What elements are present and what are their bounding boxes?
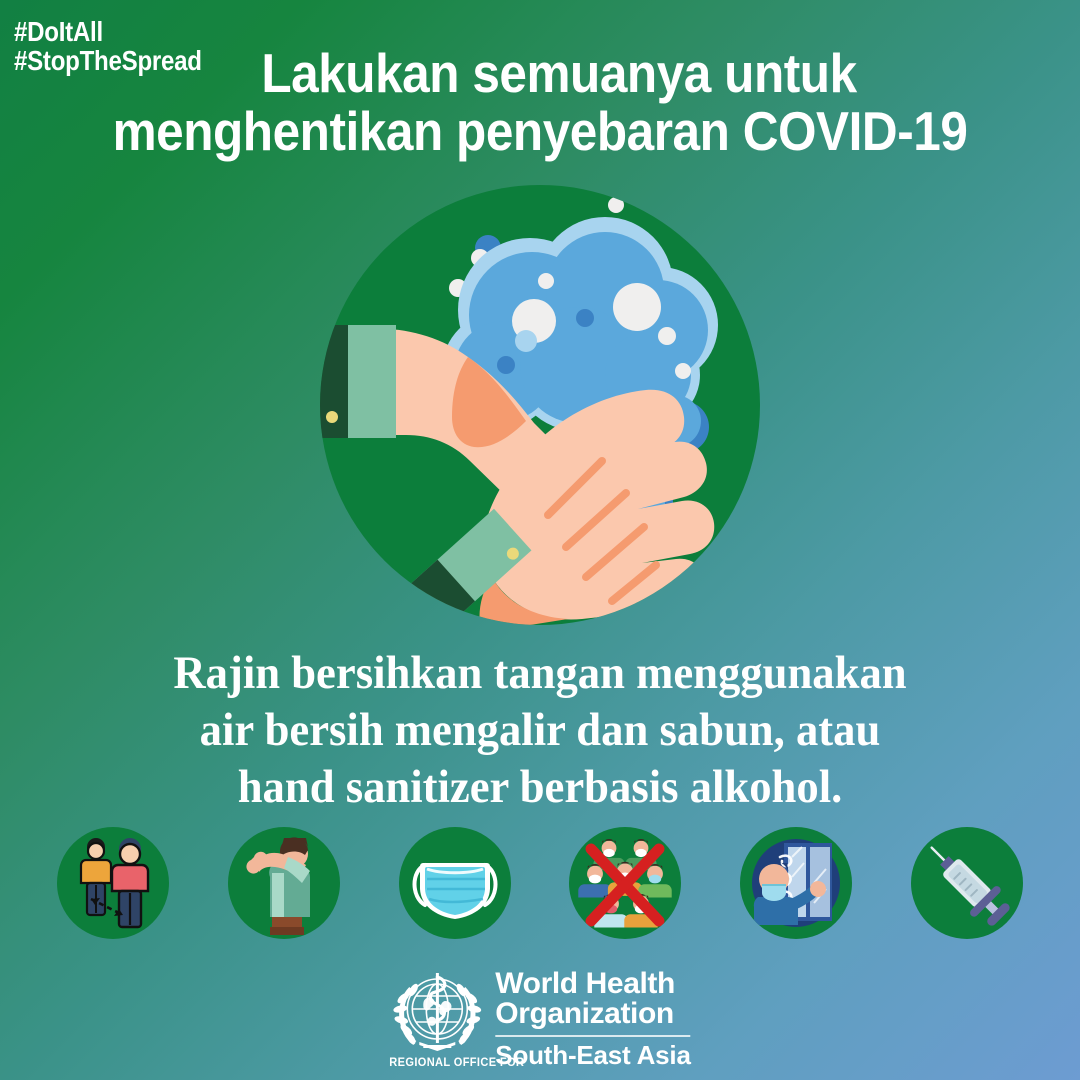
who-wordmark: World Health Organization South-East Asi… (495, 963, 690, 1068)
who-regional-office-label: REGIONAL OFFICE FOR (389, 1055, 524, 1069)
who-name-line-1: World Health (495, 969, 690, 999)
cough-into-elbow-icon (228, 827, 340, 939)
who-region-name: South-East Asia (495, 1042, 690, 1068)
who-emblem-icon: REGIONAL OFFICE FOR (389, 965, 485, 1066)
who-logo: REGIONAL OFFICE FOR World Health Organiz… (389, 963, 690, 1075)
body-message: Rajin bersihkan tangan menggunakan air b… (0, 645, 1080, 816)
hashtag-do-it-all: #DoItAll (14, 18, 202, 47)
ventilation-open-window-icon (740, 827, 852, 939)
headline-line-2: menghentikan penyebaran COVID-19 (54, 102, 1026, 160)
prevention-icon-row (57, 825, 1023, 940)
vaccination-syringe-icon (911, 827, 1023, 939)
headline-line-1: Lakukan semuanya untuk (90, 44, 1028, 102)
physical-distancing-icon (57, 827, 169, 939)
face-mask-icon (399, 827, 511, 939)
who-divider (495, 1035, 690, 1037)
body-line-1: Rajin bersihkan tangan menggunakan (27, 645, 1053, 702)
avoid-crowds-icon (569, 827, 681, 939)
poster-canvas: #DoItAll #StopTheSpread Lakukan semuanya… (0, 0, 1080, 1080)
body-line-2: air bersih mengalir dan sabun, atau (27, 702, 1053, 759)
who-name-line-2: Organization (495, 999, 690, 1029)
body-line-3: hand sanitizer berbasis alkohol. (27, 759, 1053, 816)
handwashing-illustration-circle (320, 185, 760, 625)
page-title: Lakukan semuanya untuk menghentikan peny… (0, 44, 1080, 161)
handwashing-icon (320, 185, 760, 625)
